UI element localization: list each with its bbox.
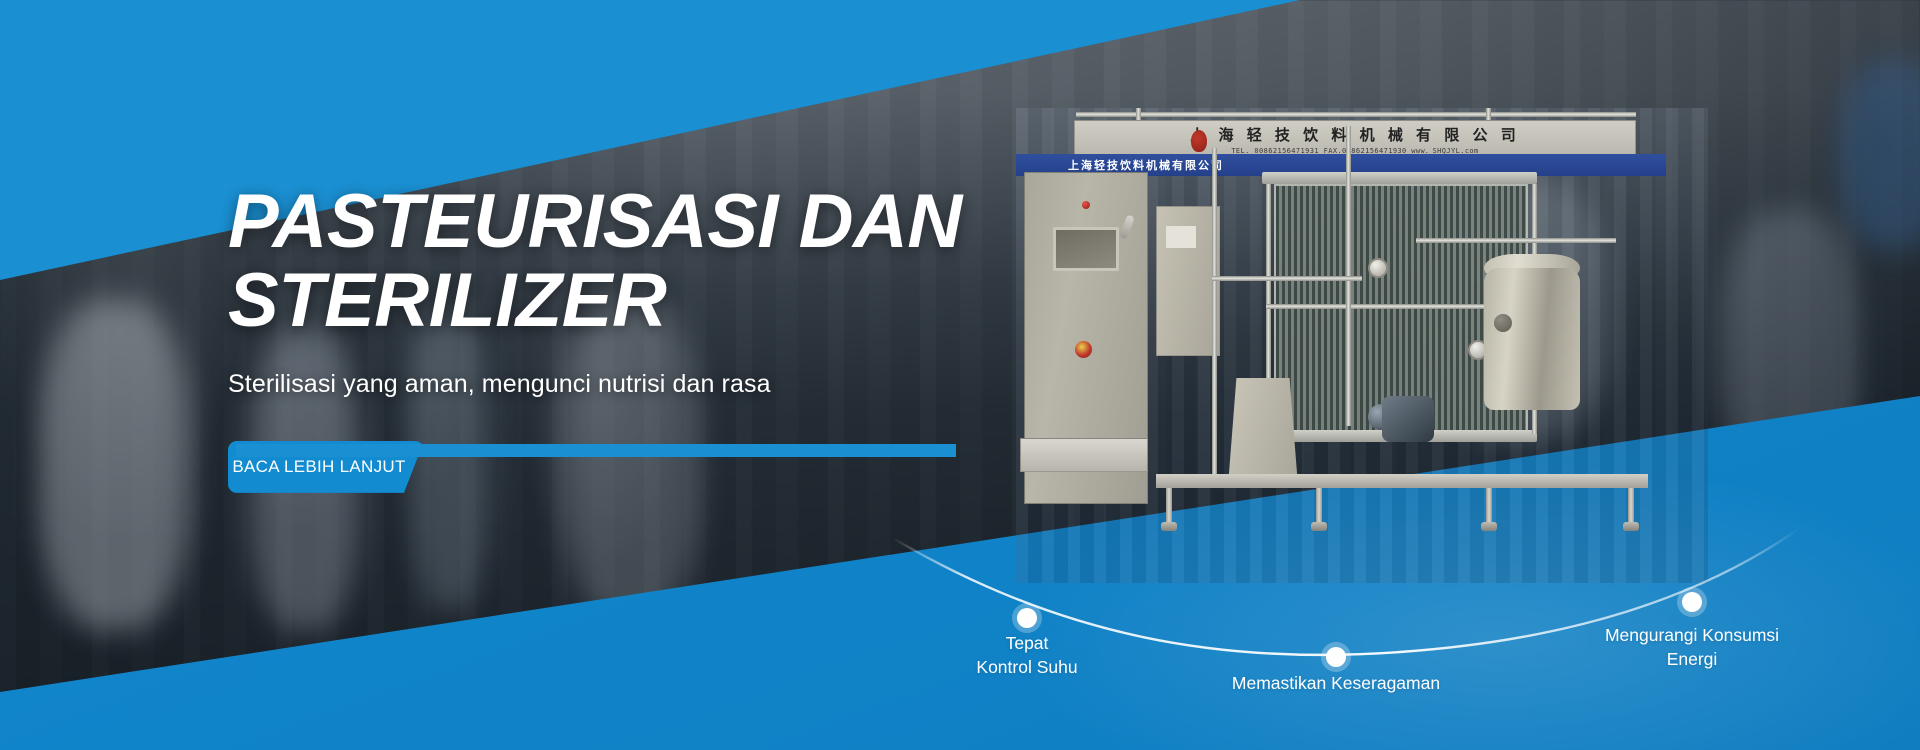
cabinet-handle <box>1119 214 1135 239</box>
adjustable-foot <box>1311 522 1327 531</box>
feature-point-temperature-control[interactable] <box>1017 608 1037 628</box>
page-title-line-1: PASTEURISASI DAN <box>228 186 1088 259</box>
hero-subtitle: Sterilisasi yang aman, mengunci nutrisi … <box>228 370 1088 399</box>
centrifugal-pump <box>1382 396 1434 442</box>
company-logo-icon <box>1191 130 1207 152</box>
tank-inspection-port <box>1494 314 1512 332</box>
machine-base-frame <box>1156 474 1648 488</box>
plate-company-name: 上 海 轻 技 饮 料 机 械 有 限 公 司 <box>1190 128 1519 143</box>
page-title: PASTEURISASI DAN STERILIZER <box>228 186 1088 338</box>
feature-label-energy-saving[interactable]: Mengurangi Konsumsi Energi <box>1605 624 1779 671</box>
product-image-pasteurizer: 上 海 轻 技 饮 料 机 械 有 限 公 司 TEL. 00862156471… <box>1016 108 1708 583</box>
product-hopper <box>1228 378 1298 486</box>
hero-copy-block: PASTEURISASI DAN STERILIZER Sterilisasi … <box>228 186 1088 493</box>
adjustable-foot <box>1161 522 1177 531</box>
feature-label-uniformity[interactable]: Memastikan Keseragaman <box>1232 672 1440 696</box>
pressure-gauge-icon <box>1368 258 1388 278</box>
feature-point-energy-saving[interactable] <box>1682 592 1702 612</box>
feature-point-uniformity[interactable] <box>1326 647 1346 667</box>
title-underline-accent <box>236 444 956 457</box>
hero-banner: 上 海 轻 技 饮 料 机 械 有 限 公 司 TEL. 00862156471… <box>0 0 1920 750</box>
page-title-line-2: STERILIZER <box>228 265 1088 338</box>
bluebar-company-name: 上海轻技饮料机械有限公司 <box>1068 157 1224 173</box>
adjustable-foot <box>1481 522 1497 531</box>
equipment-label-tag <box>1166 226 1196 248</box>
holding-tank <box>1484 268 1580 410</box>
adjustable-foot <box>1623 522 1639 531</box>
heat-exchanger-top-frame <box>1262 172 1537 184</box>
feature-label-temperature-control[interactable]: Tepat Kontrol Suhu <box>976 632 1077 679</box>
